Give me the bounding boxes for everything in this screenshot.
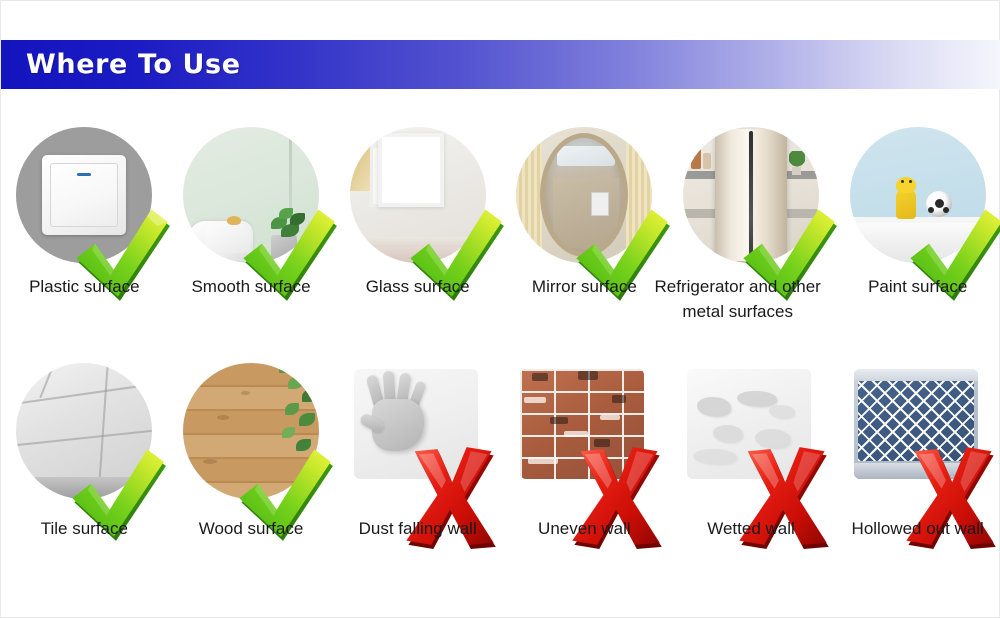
media-refrigerator <box>681 127 821 279</box>
media-paint-surface <box>848 127 988 279</box>
grid-item-wood-surface[interactable]: Wood surface <box>168 345 335 565</box>
dusty-hand-photo <box>354 369 478 479</box>
glass-window-photo <box>350 127 486 263</box>
item-label: Refrigerator and other metal surfaces <box>650 275 826 324</box>
item-label: Paint surface <box>834 275 1000 300</box>
grid-item-plastic-surface[interactable]: Plastic surface <box>1 97 168 345</box>
grid-item-glass-surface[interactable]: Glass surface <box>334 97 501 345</box>
page-title: Where To Use <box>26 49 241 80</box>
smooth-wall-photo <box>183 127 319 263</box>
grid-item-tile-surface[interactable]: Tile surface <box>1 345 168 565</box>
media-dust-falling-wall <box>348 363 488 515</box>
grid-item-wetted-wall[interactable]: Wetted wall <box>668 345 835 565</box>
plastic-switch-photo <box>16 127 152 263</box>
grid-row-unsuitable: Tile surface <box>1 345 1000 565</box>
grid-item-smooth-surface[interactable]: Smooth surface <box>168 97 335 345</box>
wet-wall-photo <box>687 369 811 479</box>
media-wood-surface <box>181 363 321 515</box>
mesh-wall-photo <box>854 369 978 479</box>
media-mirror-surface <box>514 127 654 279</box>
item-label: Mirror surface <box>501 275 668 300</box>
grid-item-uneven-wall[interactable]: Uneven wall <box>501 345 668 565</box>
item-label: Tile surface <box>1 517 168 542</box>
grid-item-refrigerator[interactable]: Refrigerator and other metal surfaces <box>668 97 835 345</box>
grid-row-suitable: Plastic surface <box>1 97 1000 345</box>
item-label: Uneven wall <box>501 517 668 542</box>
where-to-use-panel: Where To Use <box>0 0 1000 618</box>
painted-wall-photo <box>850 127 986 263</box>
item-label: Glass surface <box>334 275 501 300</box>
brick-wall-photo <box>520 369 644 479</box>
media-wetted-wall <box>681 363 821 515</box>
grid-item-mirror-surface[interactable]: Mirror surface <box>501 97 668 345</box>
media-glass-surface <box>348 127 488 279</box>
mirror-photo <box>516 127 652 263</box>
grid-item-hollowed-out-wall[interactable]: Hollowed out wall <box>834 345 1000 565</box>
grid-item-dust-falling-wall[interactable]: Dust falling wall <box>334 345 501 565</box>
media-smooth-surface <box>181 127 321 279</box>
surface-grid: Plastic surface <box>1 97 1000 565</box>
grid-item-paint-surface[interactable]: Paint surface <box>834 97 1000 345</box>
item-label: Hollowed out wall <box>834 517 1000 542</box>
item-label: Wetted wall <box>668 517 835 542</box>
media-uneven-wall <box>514 363 654 515</box>
wood-wall-photo <box>183 363 319 499</box>
media-tile-surface <box>14 363 154 515</box>
item-label: Dust falling wall <box>334 517 501 542</box>
item-label: Smooth surface <box>168 275 335 300</box>
item-label: Plastic surface <box>1 275 168 300</box>
media-plastic-surface <box>14 127 154 279</box>
refrigerator-photo <box>683 127 819 263</box>
item-label: Wood surface <box>168 517 335 542</box>
media-hollowed-out-wall <box>848 363 988 515</box>
tile-wall-photo <box>16 363 152 499</box>
